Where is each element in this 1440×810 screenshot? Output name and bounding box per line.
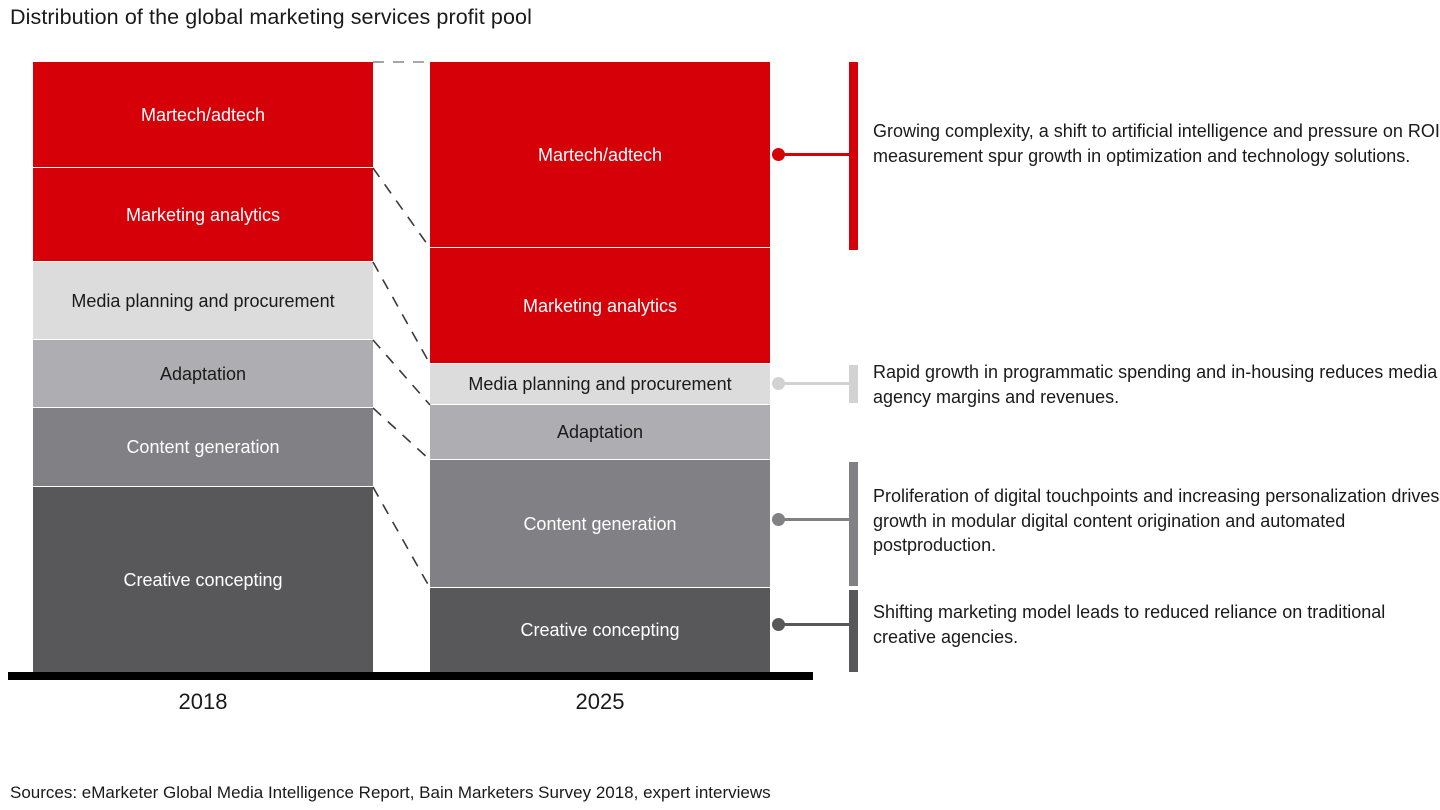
bar-segment-label: Creative concepting (121, 569, 284, 591)
bar-segment-2025-marketing-analytics[interactable]: Marketing analytics (430, 248, 770, 364)
stacked-bar-2018: Martech/adtech Marketing analytics Media… (33, 62, 373, 672)
bar-segment-label: Media planning and procurement (466, 373, 733, 395)
chart-plot-area: Martech/adtech Marketing analytics Media… (0, 0, 1440, 810)
bar-segment-label: Media planning and procurement (69, 290, 336, 312)
bar-segment-2018-adaptation[interactable]: Adaptation (33, 340, 373, 408)
bar-segment-2018-martech-adtech[interactable]: Martech/adtech (33, 62, 373, 168)
bar-segment-2025-media-planning-and-procurement[interactable]: Media planning and procurement (430, 364, 770, 405)
callout-dot-dark-gray (772, 618, 785, 631)
bar-segment-2018-content-generation[interactable]: Content generation (33, 408, 373, 487)
bar-segment-label: Marketing analytics (521, 295, 679, 317)
bar-segment-2025-adaptation[interactable]: Adaptation (430, 405, 770, 460)
callout-dot-red (772, 148, 785, 161)
bar-segment-label: Adaptation (158, 363, 248, 385)
x-axis-line (8, 672, 813, 680)
bar-segment-2025-creative-concepting[interactable]: Creative concepting (430, 588, 770, 672)
callout-text: Growing complexity, a shift to artificia… (873, 119, 1440, 168)
bar-segment-label: Content generation (124, 436, 281, 458)
callout-rail-red (849, 62, 858, 250)
bar-segment-label: Creative concepting (518, 619, 681, 641)
callout-text: Rapid growth in programmatic spending an… (873, 360, 1440, 409)
bar-segment-label: Content generation (521, 513, 678, 535)
x-axis-tick-2018: 2018 (123, 688, 283, 716)
source-note: Sources: eMarketer Global Media Intellig… (10, 782, 771, 804)
callout-stem-dark-gray (782, 623, 852, 626)
callout-dot-light-gray (772, 377, 785, 390)
callout-rail-dark-gray (849, 590, 858, 672)
bar-segment-label: Martech/adtech (536, 144, 664, 166)
callout-text: Shifting marketing model leads to reduce… (873, 600, 1440, 649)
callout-text: Proliferation of digital touchpoints and… (873, 484, 1440, 558)
bar-segment-2025-content-generation[interactable]: Content generation (430, 460, 770, 588)
stacked-bar-2025: Martech/adtech Marketing analytics Media… (430, 62, 770, 672)
bar-segment-label: Adaptation (555, 421, 645, 443)
bar-segment-2018-creative-concepting[interactable]: Creative concepting (33, 487, 373, 672)
bar-segment-2018-media-planning-and-procurement[interactable]: Media planning and procurement (33, 262, 373, 340)
bar-segment-label: Martech/adtech (139, 104, 267, 126)
bar-segment-label: Marketing analytics (124, 204, 282, 226)
callout-stem-mid-gray (782, 518, 852, 521)
bar-segment-2018-marketing-analytics[interactable]: Marketing analytics (33, 168, 373, 262)
callout-stem-light-gray (782, 382, 852, 385)
callout-stem-red (782, 153, 852, 156)
callout-rail-mid-gray (849, 462, 858, 586)
bar-segment-2025-martech-adtech[interactable]: Martech/adtech (430, 62, 770, 248)
x-axis-tick-2025: 2025 (520, 688, 680, 716)
callout-dot-mid-gray (772, 513, 785, 526)
